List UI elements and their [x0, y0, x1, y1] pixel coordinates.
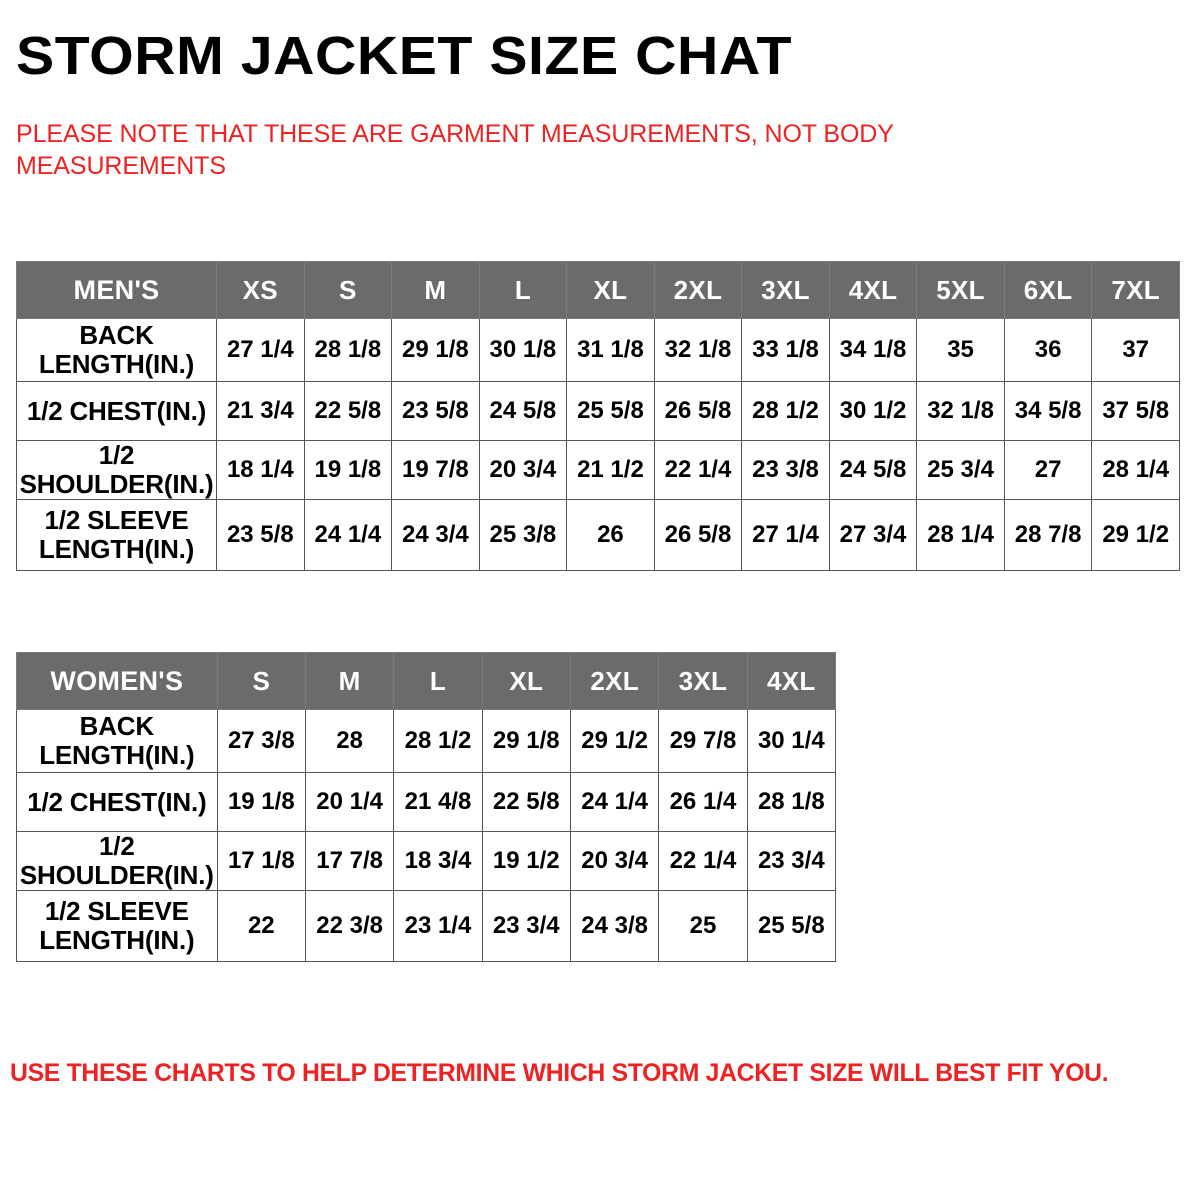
- measurement-cell: 23 5/8: [217, 500, 305, 571]
- mens-header-row: MEN'SXSSMLXL2XL3XL4XL5XL6XL7XL: [17, 262, 1180, 319]
- table-row: 1/2 SHOULDER(IN.)18 1/419 1/819 7/820 3/…: [17, 441, 1180, 500]
- measurement-cell: 22 5/8: [482, 773, 570, 832]
- womens-size-table: WOMEN'SSMLXL2XL3XL4XL BACKLENGTH(IN.)27 …: [16, 652, 836, 962]
- measurement-cell: 19 1/2: [482, 832, 570, 891]
- womens-size-column-header: M: [305, 653, 393, 710]
- measurement-cell: 26 5/8: [654, 500, 742, 571]
- womens-size-column-header: XL: [482, 653, 570, 710]
- mens-size-column-header: XS: [217, 262, 305, 319]
- mens-size-table: MEN'SXSSMLXL2XL3XL4XL5XL6XL7XL BACKLENGT…: [16, 261, 1180, 571]
- measurement-cell: 25 5/8: [567, 382, 655, 441]
- measurement-cell: 25 3/8: [479, 500, 567, 571]
- measurement-cell: 23 3/8: [742, 441, 830, 500]
- measurement-cell: 24 1/4: [570, 773, 658, 832]
- womens-size-column-header: 3XL: [659, 653, 747, 710]
- measurement-cell: 21 3/4: [217, 382, 305, 441]
- mens-measurement-label: 1/2 CHEST(IN.): [17, 382, 217, 441]
- measurement-cell: 30 1/2: [829, 382, 917, 441]
- mens-size-column-header: 6XL: [1004, 262, 1092, 319]
- size-chart-page: STORM JACKET SIZE CHAT PLEASE NOTE THAT …: [0, 0, 1200, 1200]
- use-charts-note: USE THESE CHARTS TO HELP DETERMINE WHICH…: [10, 1058, 1119, 1088]
- measurement-cell: 19 7/8: [392, 441, 480, 500]
- measurement-cell: 28 1/2: [394, 710, 482, 773]
- mens-size-column-header: S: [304, 262, 392, 319]
- mens-size-column-header: L: [479, 262, 567, 319]
- measurement-cell: 37 5/8: [1092, 382, 1180, 441]
- measurement-cell: 28: [305, 710, 393, 773]
- mens-group-label: MEN'S: [17, 262, 217, 319]
- measurement-cell: 28 1/2: [742, 382, 830, 441]
- mens-size-column-header: 4XL: [829, 262, 917, 319]
- measurement-cell: 25 5/8: [747, 891, 835, 962]
- measurement-cell: 34 5/8: [1004, 382, 1092, 441]
- mens-size-column-header: XL: [567, 262, 655, 319]
- measurement-cell: 20 3/4: [570, 832, 658, 891]
- measurement-cell: 37: [1092, 319, 1180, 382]
- womens-table-header: WOMEN'SSMLXL2XL3XL4XL: [17, 653, 836, 710]
- measurement-cell: 32 1/8: [917, 382, 1005, 441]
- table-row: 1/2 SLEEVELENGTH(IN.)2222 3/823 1/423 3/…: [17, 891, 836, 962]
- womens-measurement-label: 1/2 SLEEVELENGTH(IN.): [17, 891, 218, 962]
- mens-measurement-label: BACKLENGTH(IN.): [17, 319, 217, 382]
- measurement-cell: 32 1/8: [654, 319, 742, 382]
- measurement-cell: 22 3/8: [305, 891, 393, 962]
- measurement-cell: 25 3/4: [917, 441, 1005, 500]
- measurement-cell: 27 1/4: [217, 319, 305, 382]
- measurement-cell: 24 5/8: [479, 382, 567, 441]
- measurement-cell: 26: [567, 500, 655, 571]
- mens-size-column-header: 3XL: [742, 262, 830, 319]
- mens-table-body: BACKLENGTH(IN.)27 1/428 1/829 1/830 1/83…: [17, 319, 1180, 571]
- measurement-cell: 19 1/8: [217, 773, 305, 832]
- measurement-cell: 19 1/8: [304, 441, 392, 500]
- womens-group-label: WOMEN'S: [17, 653, 218, 710]
- measurement-cell: 28 1/8: [747, 773, 835, 832]
- womens-measurement-label: BACKLENGTH(IN.): [17, 710, 218, 773]
- womens-size-column-header: S: [217, 653, 305, 710]
- measurement-cell: 34 1/8: [829, 319, 917, 382]
- measurement-cell: 29 1/8: [392, 319, 480, 382]
- table-row: 1/2 CHEST(IN.)21 3/422 5/823 5/824 5/825…: [17, 382, 1180, 441]
- measurement-cell: 22 1/4: [659, 832, 747, 891]
- measurement-cell: 35: [917, 319, 1005, 382]
- measurement-cell: 24 3/8: [570, 891, 658, 962]
- garment-measurement-note: PLEASE NOTE THAT THESE ARE GARMENT MEASU…: [16, 118, 976, 182]
- measurement-cell: 30 1/4: [747, 710, 835, 773]
- measurement-cell: 23 1/4: [394, 891, 482, 962]
- page-title: STORM JACKET SIZE CHAT: [16, 26, 792, 86]
- table-row: 1/2 SHOULDER(IN.)17 1/817 7/818 3/419 1/…: [17, 832, 836, 891]
- measurement-cell: 22 1/4: [654, 441, 742, 500]
- womens-size-column-header: 2XL: [570, 653, 658, 710]
- measurement-cell: 21 1/2: [567, 441, 655, 500]
- measurement-cell: 23 5/8: [392, 382, 480, 441]
- measurement-cell: 22 5/8: [304, 382, 392, 441]
- measurement-cell: 29 7/8: [659, 710, 747, 773]
- measurement-cell: 25: [659, 891, 747, 962]
- measurement-cell: 17 7/8: [305, 832, 393, 891]
- measurement-cell: 31 1/8: [567, 319, 655, 382]
- measurement-cell: 36: [1004, 319, 1092, 382]
- measurement-cell: 21 4/8: [394, 773, 482, 832]
- measurement-cell: 30 1/8: [479, 319, 567, 382]
- measurement-cell: 17 1/8: [217, 832, 305, 891]
- measurement-cell: 29 1/2: [1092, 500, 1180, 571]
- measurement-cell: 27 1/4: [742, 500, 830, 571]
- measurement-cell: 28 1/4: [917, 500, 1005, 571]
- table-row: BACKLENGTH(IN.)27 3/82828 1/229 1/829 1/…: [17, 710, 836, 773]
- womens-table-body: BACKLENGTH(IN.)27 3/82828 1/229 1/829 1/…: [17, 710, 836, 962]
- mens-size-column-header: 7XL: [1092, 262, 1180, 319]
- womens-header-row: WOMEN'SSMLXL2XL3XL4XL: [17, 653, 836, 710]
- mens-measurement-label: 1/2 SHOULDER(IN.): [17, 441, 217, 500]
- measurement-cell: 27 3/4: [829, 500, 917, 571]
- measurement-cell: 23 3/4: [747, 832, 835, 891]
- table-row: BACKLENGTH(IN.)27 1/428 1/829 1/830 1/83…: [17, 319, 1180, 382]
- womens-size-column-header: 4XL: [747, 653, 835, 710]
- measurement-cell: 27 3/8: [217, 710, 305, 773]
- measurement-cell: 23 3/4: [482, 891, 570, 962]
- mens-size-column-header: 2XL: [654, 262, 742, 319]
- measurement-cell: 20 1/4: [305, 773, 393, 832]
- measurement-cell: 20 3/4: [479, 441, 567, 500]
- measurement-cell: 24 3/4: [392, 500, 480, 571]
- measurement-cell: 22: [217, 891, 305, 962]
- mens-size-column-header: 5XL: [917, 262, 1005, 319]
- measurement-cell: 26 5/8: [654, 382, 742, 441]
- table-row: 1/2 SLEEVELENGTH(IN.)23 5/824 1/424 3/42…: [17, 500, 1180, 571]
- mens-size-column-header: M: [392, 262, 480, 319]
- measurement-cell: 27: [1004, 441, 1092, 500]
- measurement-cell: 33 1/8: [742, 319, 830, 382]
- mens-table-header: MEN'SXSSMLXL2XL3XL4XL5XL6XL7XL: [17, 262, 1180, 319]
- measurement-cell: 18 3/4: [394, 832, 482, 891]
- measurement-cell: 18 1/4: [217, 441, 305, 500]
- measurement-cell: 29 1/8: [482, 710, 570, 773]
- measurement-cell: 26 1/4: [659, 773, 747, 832]
- womens-size-column-header: L: [394, 653, 482, 710]
- measurement-cell: 28 1/4: [1092, 441, 1180, 500]
- measurement-cell: 24 5/8: [829, 441, 917, 500]
- mens-measurement-label: 1/2 SLEEVELENGTH(IN.): [17, 500, 217, 571]
- measurement-cell: 28 1/8: [304, 319, 392, 382]
- womens-measurement-label: 1/2 SHOULDER(IN.): [17, 832, 218, 891]
- measurement-cell: 24 1/4: [304, 500, 392, 571]
- measurement-cell: 29 1/2: [570, 710, 658, 773]
- table-row: 1/2 CHEST(IN.)19 1/820 1/421 4/822 5/824…: [17, 773, 836, 832]
- measurement-cell: 28 7/8: [1004, 500, 1092, 571]
- womens-measurement-label: 1/2 CHEST(IN.): [17, 773, 218, 832]
